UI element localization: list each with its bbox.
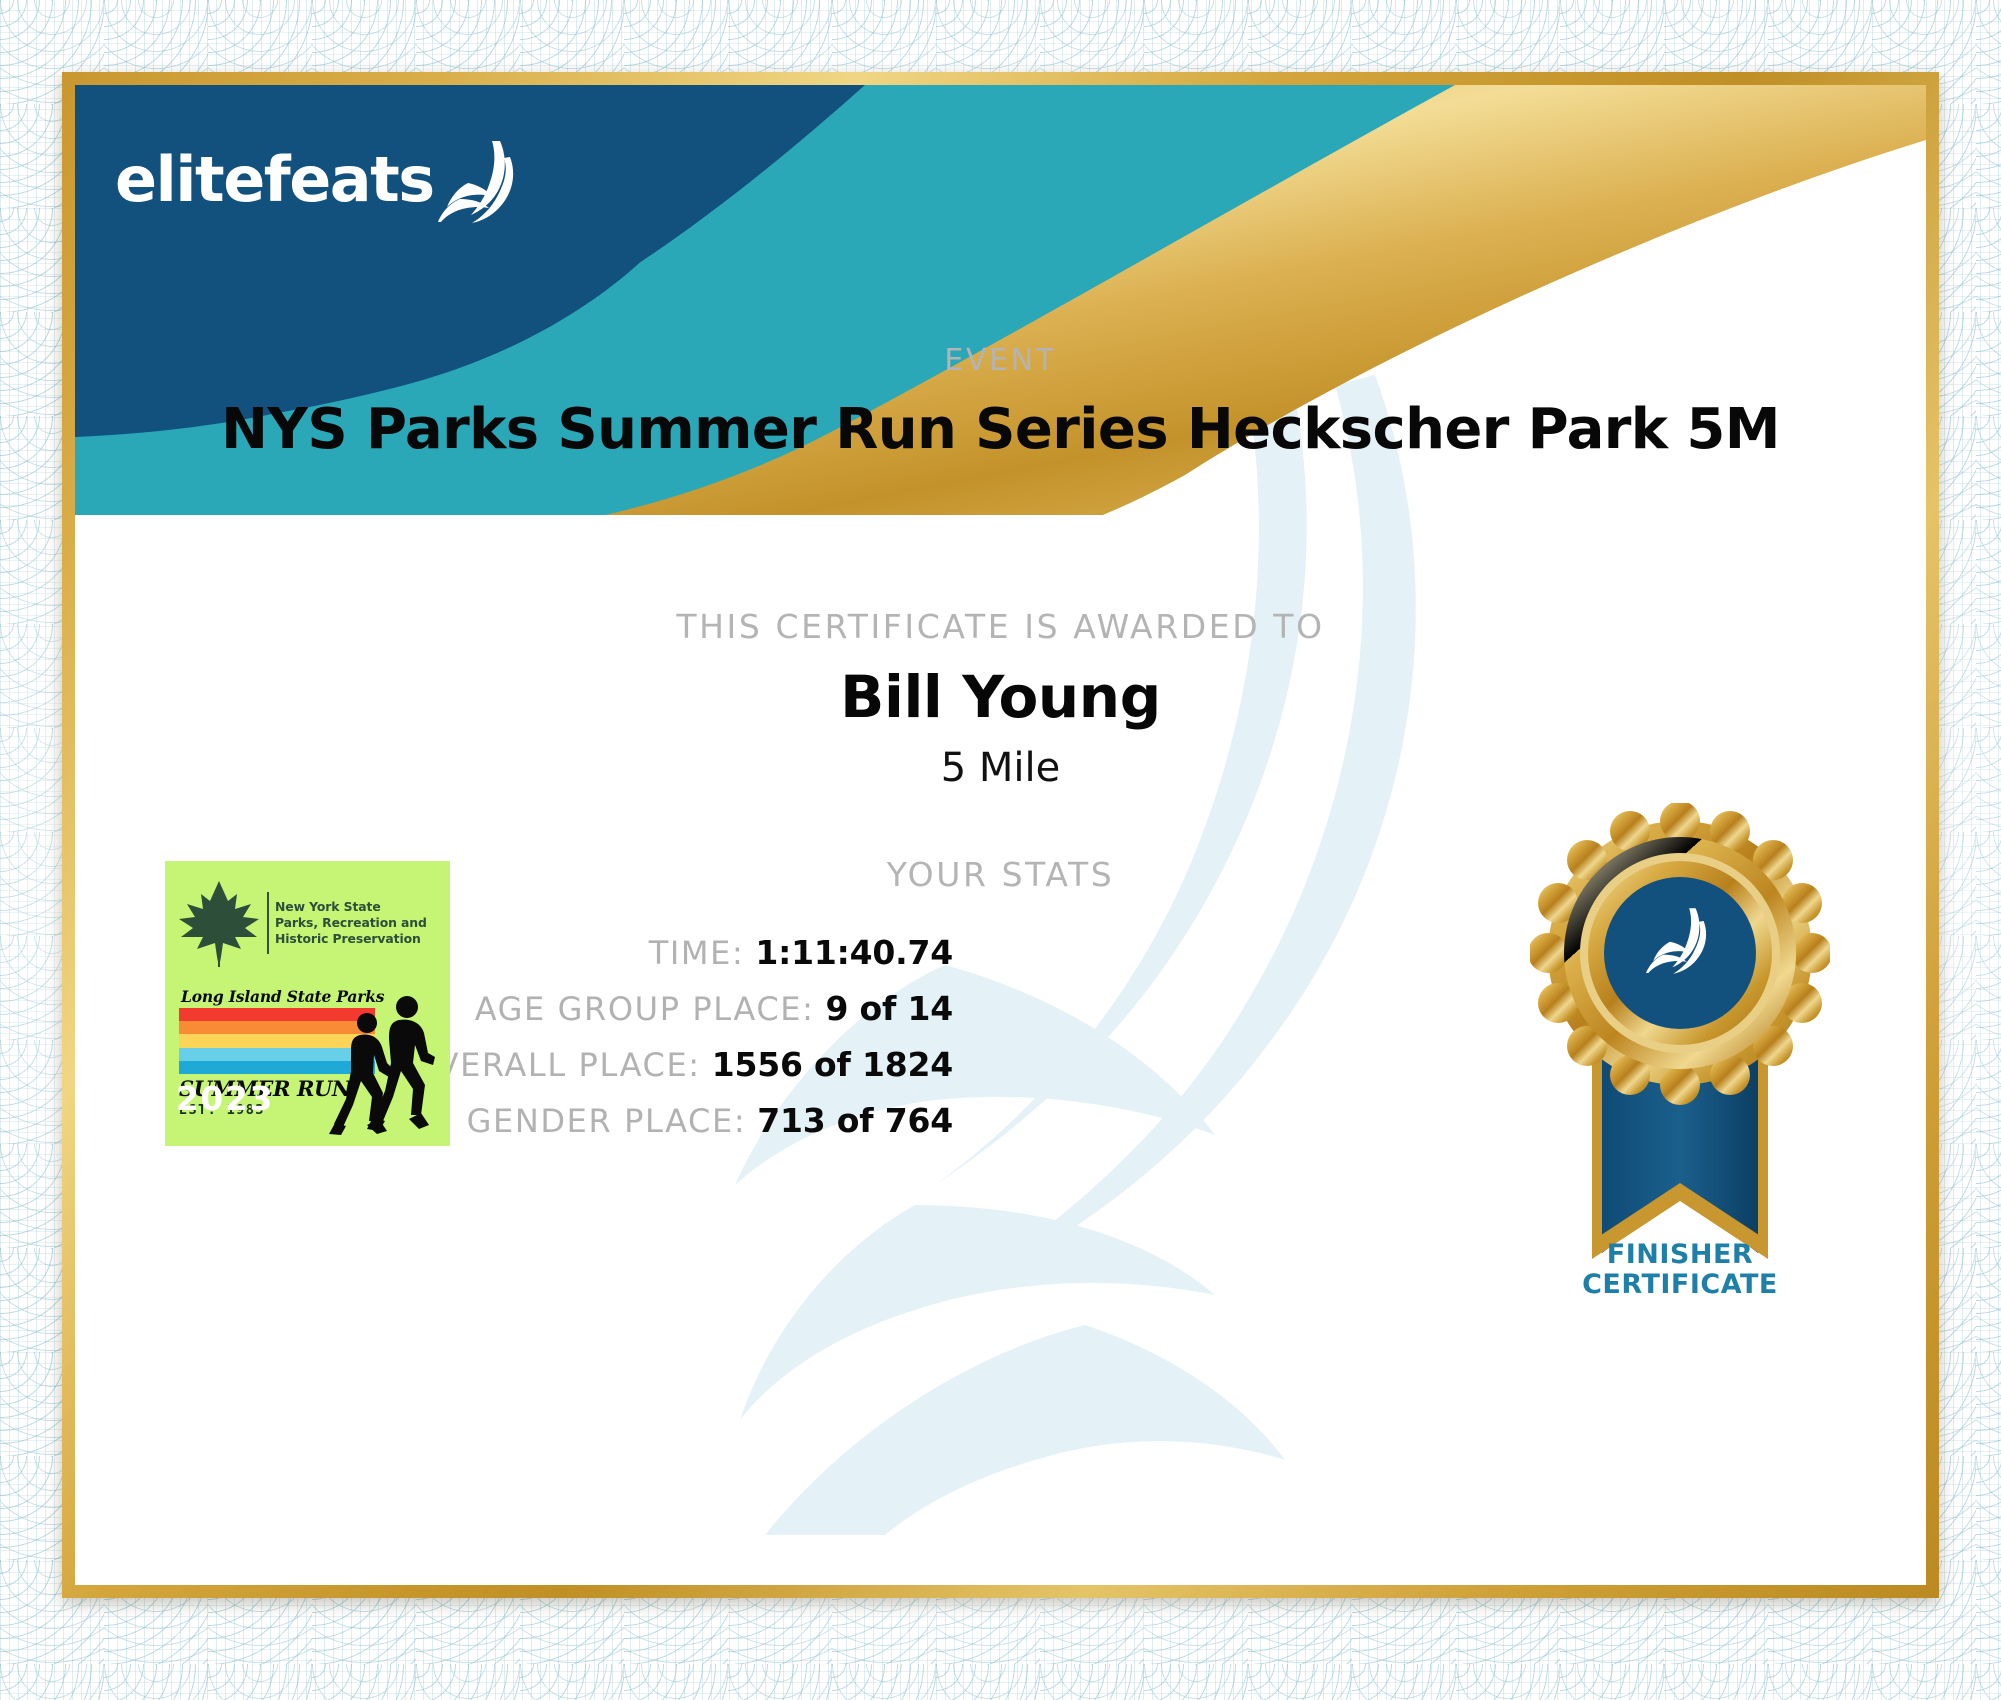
brand-wordmark: elitefeats <box>115 149 434 211</box>
stat-row-time: TIME: 1:11:40.74 <box>649 933 953 972</box>
agency-name: New York State Parks, Recreation and His… <box>275 899 427 947</box>
finisher-medal-badge <box>1530 803 1830 1303</box>
agency-line-2: Parks, Recreation and <box>275 915 427 931</box>
stat-row-overall-place: OVERALL PLACE: 1556 of 1824 <box>410 1045 953 1084</box>
certificate-gold-frame: elitefeats EVENT NYS Parks Summer Run Se… <box>62 72 1939 1598</box>
badge-caption-line-2: CERTIFICATE <box>1530 1270 1830 1300</box>
recipient-division: 5 Mile <box>75 745 1926 791</box>
badge-caption: FINISHER CERTIFICATE <box>1530 1240 1830 1300</box>
winged-foot-icon <box>438 137 522 223</box>
badge-caption-line-1: FINISHER <box>1530 1240 1830 1270</box>
stat-value: 713 of 764 <box>757 1101 953 1140</box>
stat-key: AGE GROUP PLACE: <box>475 990 815 1028</box>
stat-key: TIME: <box>649 934 745 972</box>
stat-row-age-group-place: AGE GROUP PLACE: 9 of 14 <box>475 989 953 1028</box>
recipient-name: Bill Young <box>75 663 1926 731</box>
stat-value: 1:11:40.74 <box>755 933 953 972</box>
stat-key: GENDER PLACE: <box>467 1102 747 1140</box>
logo-divider <box>267 892 269 954</box>
brand-logo: elitefeats <box>115 137 522 223</box>
event-label: EVENT <box>75 343 1926 378</box>
stat-value: 1556 of 1824 <box>712 1045 953 1084</box>
event-title: NYS Parks Summer Run Series Heckscher Pa… <box>75 397 1926 462</box>
badge-year: 2023 <box>75 1079 375 1118</box>
maple-leaf-icon <box>177 879 261 967</box>
stat-row-gender-place: GENDER PLACE: 713 of 764 <box>467 1101 953 1140</box>
agency-line-1: New York State <box>275 899 427 915</box>
agency-line-3: Historic Preservation <box>275 931 427 947</box>
awarded-to-label: THIS CERTIFICATE IS AWARDED TO <box>75 607 1926 646</box>
stat-value: 9 of 14 <box>826 989 954 1028</box>
certificate-body: elitefeats EVENT NYS Parks Summer Run Se… <box>75 85 1926 1585</box>
certificate-page: elitefeats EVENT NYS Parks Summer Run Se… <box>0 0 2001 1700</box>
nys-parks-logo: New York State Parks, Recreation and His… <box>177 875 439 971</box>
stat-key: OVERALL PLACE: <box>410 1046 700 1084</box>
